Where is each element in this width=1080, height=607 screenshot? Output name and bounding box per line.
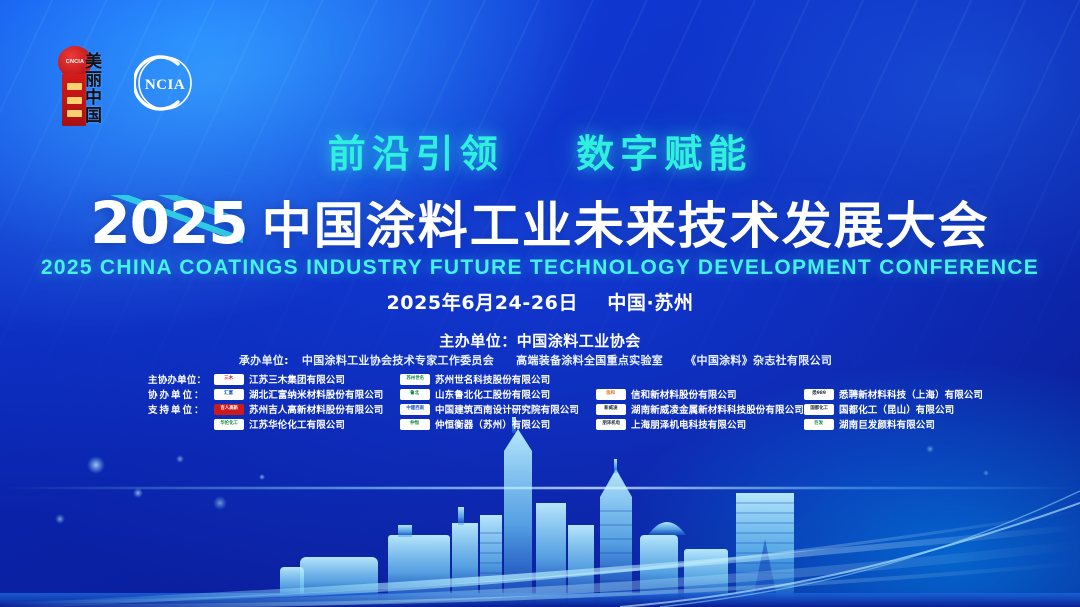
sponsor-name: 国都化工（昆山）有限公司: [839, 402, 954, 416]
sponsor-name: 中国建筑西南设计研究院有限公司: [435, 402, 579, 416]
event-date: 2025年6月24-26日: [386, 292, 578, 314]
sponsor-logo-icon: 汇富: [214, 389, 244, 400]
cncia-subtext-1: [67, 83, 82, 90]
title-english: 2025 CHINA COATINGS INDUSTRY FUTURE TECH…: [0, 256, 1080, 280]
sponsor-row-label: 主协办单位：: [148, 372, 214, 386]
sponsor-name: 湖南新威凌金属新材料科技股份有限公司: [631, 402, 804, 416]
sponsor-row: 主协办单位：三木江苏三木集团有限公司苏州世名苏州世名科技股份有限公司: [148, 372, 960, 386]
sponsor-row: 华伦化工江苏华伦化工有限公司仲恒仲恒衡器（苏州）有限公司朋泽机电上海朋泽机电科技…: [148, 417, 960, 431]
conference-tagline: 前沿引领 数字赋能: [0, 123, 1080, 178]
sponsor-item[interactable]: 吉人高新苏州吉人高新材料股份有限公司: [214, 402, 400, 416]
sponsor-item[interactable]: 信和信和新材料股份有限公司: [596, 387, 804, 401]
sponsor-item[interactable]: 三木江苏三木集团有限公司: [214, 372, 400, 386]
sponsor-logo-icon: 鲁北: [400, 389, 430, 400]
undertaker-3: 《中国涂料》杂志社有限公司: [685, 354, 832, 367]
sponsor-item[interactable]: 新威凌湖南新威凌金属新材料科技股份有限公司: [596, 402, 804, 416]
tagline-right: 数字赋能: [576, 132, 752, 176]
sponsor-name: 仲恒衡器（苏州）有限公司: [435, 417, 550, 431]
city-skyline-scene: [0, 407, 1080, 607]
undertaker-2: 高端装备涂料全国重点实验室: [516, 354, 663, 367]
horizon-glow-line: [0, 487, 1080, 489]
cncia-beautiful-china-logo: CNCIA 美丽中国: [56, 46, 100, 128]
sponsor-row: 协办单位：汇富湖北汇富纳米材料股份有限公司鲁北山东鲁北化工股份有限公司信和信和新…: [148, 387, 960, 401]
tagline-left: 前沿引领: [328, 132, 504, 176]
title-year: 2025: [90, 189, 247, 257]
sponsor-name: 湖北汇富纳米材料股份有限公司: [249, 387, 383, 401]
sponsor-grid: 主协办单位：三木江苏三木集团有限公司苏州世名苏州世名科技股份有限公司协办单位：汇…: [148, 372, 960, 432]
page-title: 2025中国涂料工业未来技术发展大会: [0, 186, 1080, 258]
sponsor-item[interactable]: 鲁北山东鲁北化工股份有限公司: [400, 387, 596, 401]
sponsor-item[interactable]: 国都化工国都化工（昆山）有限公司: [804, 402, 954, 416]
sponsor-item[interactable]: 华伦化工江苏华伦化工有限公司: [214, 417, 400, 431]
sponsor-logo-icon: 仲恒: [400, 419, 430, 430]
sponsor-name: 信和新材料股份有限公司: [631, 387, 737, 401]
event-date-location: 2025年6月24-26日 中国·苏州: [0, 288, 1080, 315]
sponsor-logo-icon: 国都化工: [804, 404, 834, 415]
sponsor-item[interactable]: 巨发湖南巨发颜料有限公司: [804, 417, 935, 431]
logo-group: CNCIA 美丽中国 NCIA: [56, 46, 196, 128]
sponsor-row-label: 协办单位：: [148, 387, 214, 401]
sponsor-name: 苏州世名科技股份有限公司: [435, 372, 550, 386]
sponsor-row-label: 支持单位：: [148, 402, 214, 416]
undertaker-label: 承办单位:: [239, 354, 289, 367]
sponsor-item[interactable]: 汇富湖北汇富纳米材料股份有限公司: [214, 387, 400, 401]
event-location: 中国·苏州: [607, 292, 693, 314]
sponsor-name: 湖南巨发颜料有限公司: [839, 417, 935, 431]
sponsor-logo-icon: 信和: [596, 389, 626, 400]
sponsor-item[interactable]: 仲恒仲恒衡器（苏州）有限公司: [400, 417, 596, 431]
sponsor-row: 支持单位：吉人高新苏州吉人高新材料股份有限公司中建西南中国建筑西南设计研究院有限…: [148, 402, 960, 416]
sponsor-logo-icon: 三木: [214, 374, 244, 385]
svg-text:NCIA: NCIA: [145, 77, 185, 93]
sponsor-logo-icon: 巨发: [804, 419, 834, 430]
sponsor-logo-icon: 悉989: [804, 389, 834, 400]
undertaker-1: 中国涂料工业协会技术专家工作委员会: [302, 354, 494, 367]
sponsor-logo-icon: 中建西南: [400, 404, 430, 415]
cncia-subtext-2: [67, 97, 82, 104]
sponsor-logo-icon: 苏州世名: [400, 374, 430, 385]
sponsor-name: 上海朋泽机电科技有限公司: [631, 417, 746, 431]
title-chinese: 中国涂料工业未来技术发展大会: [262, 197, 990, 255]
sponsor-item[interactable]: 中建西南中国建筑西南设计研究院有限公司: [400, 402, 596, 416]
sponsor-name: 山东鲁北化工股份有限公司: [435, 387, 550, 401]
ncia-logo: NCIA: [134, 52, 196, 114]
sponsor-logo-icon: 朋泽机电: [596, 419, 626, 430]
cncia-vertical-text: 美丽中国: [82, 48, 100, 128]
undertaker-organizers: 承办单位: 中国涂料工业协会技术专家工作委员会 高端装备涂料全国重点实验室 《中…: [0, 352, 1080, 368]
sponsor-logo-icon: 吉人高新: [214, 404, 244, 415]
sponsor-logo-icon: 新威凌: [596, 404, 626, 415]
host-organizer: 主办单位：中国涂料工业协会: [0, 330, 1080, 351]
sponsor-name: 江苏三木集团有限公司: [249, 372, 345, 386]
sponsor-item[interactable]: 悉989悉聘新材料科技（上海）有限公司: [804, 387, 983, 401]
sponsor-item[interactable]: 苏州世名苏州世名科技股份有限公司: [400, 372, 596, 386]
sponsor-name: 苏州吉人高新材料股份有限公司: [249, 402, 383, 416]
cncia-subtext-3: [67, 110, 82, 117]
sponsor-name: 悉聘新材料科技（上海）有限公司: [839, 387, 983, 401]
sponsor-item[interactable]: 朋泽机电上海朋泽机电科技有限公司: [596, 417, 804, 431]
sponsor-name: 江苏华伦化工有限公司: [249, 417, 345, 431]
conference-banner: CNCIA 美丽中国 NCIA 前沿引领 数字赋能 2025中国涂料工业未来技术…: [0, 0, 1080, 607]
sponsor-logo-icon: 华伦化工: [214, 419, 244, 430]
